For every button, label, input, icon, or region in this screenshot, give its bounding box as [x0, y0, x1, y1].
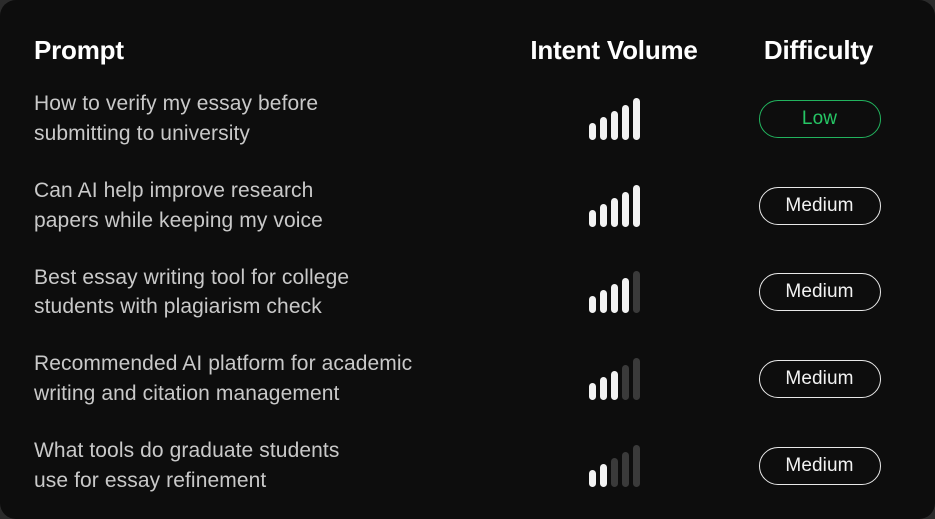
signal-bar-1: [589, 383, 596, 400]
signal-bar-1: [589, 296, 596, 313]
signal-bar-2: [600, 204, 607, 227]
cell-prompt: Recommended AI platform for academic wri…: [34, 349, 504, 409]
signal-bar-4: [622, 365, 629, 400]
prompt-insights-card: Prompt Intent Volume Difficulty How to v…: [0, 0, 935, 519]
header-cell-prompt: Prompt: [34, 35, 504, 66]
cell-prompt: Best essay writing tool for college stud…: [34, 263, 504, 323]
signal-bar-3: [611, 111, 618, 140]
signal-bar-2: [600, 290, 607, 313]
signal-bar-1: [589, 470, 596, 487]
signal-bar-4: [622, 105, 629, 140]
signal-bar-1: [589, 123, 596, 140]
difficulty-badge[interactable]: Medium: [759, 187, 881, 225]
cell-prompt: How to verify my essay before submitting…: [34, 89, 504, 149]
signal-bar-5: [633, 98, 640, 140]
prompt-text: How to verify my essay before submitting…: [34, 92, 318, 145]
prompt-text: Recommended AI platform for academic wri…: [34, 352, 412, 405]
signal-bar-3: [611, 371, 618, 400]
cell-prompt: What tools do graduate students use for …: [34, 436, 504, 496]
signal-bars-icon: [589, 358, 640, 400]
signal-bar-3: [611, 458, 618, 487]
signal-bar-2: [600, 464, 607, 487]
column-header-intent-volume: Intent Volume: [530, 35, 697, 66]
signal-bar-5: [633, 445, 640, 487]
signal-bars-icon: [589, 445, 640, 487]
cell-intent-volume: [504, 445, 724, 487]
signal-bar-4: [622, 452, 629, 487]
table-row[interactable]: Can AI help improve research papers whil…: [34, 163, 915, 250]
signal-bar-2: [600, 117, 607, 140]
cell-difficulty: Medium: [724, 273, 915, 311]
signal-bar-1: [589, 210, 596, 227]
cell-difficulty: Medium: [724, 447, 915, 485]
signal-bar-5: [633, 185, 640, 227]
signal-bar-4: [622, 278, 629, 313]
signal-bars-icon: [589, 185, 640, 227]
signal-bar-5: [633, 271, 640, 313]
cell-difficulty: Medium: [724, 187, 915, 225]
prompt-text: Best essay writing tool for college stud…: [34, 266, 349, 319]
prompts-table: Prompt Intent Volume Difficulty How to v…: [0, 0, 935, 519]
table-body: How to verify my essay before submitting…: [34, 76, 915, 509]
cell-intent-volume: [504, 271, 724, 313]
cell-difficulty: Low: [724, 100, 915, 138]
signal-bar-4: [622, 192, 629, 227]
header-cell-intent-volume: Intent Volume: [504, 35, 724, 66]
table-row[interactable]: Best essay writing tool for college stud…: [34, 249, 915, 336]
cell-prompt: Can AI help improve research papers whil…: [34, 176, 504, 236]
column-header-prompt: Prompt: [34, 35, 124, 65]
table-row[interactable]: What tools do graduate students use for …: [34, 422, 915, 509]
header-cell-difficulty: Difficulty: [724, 35, 915, 66]
cell-intent-volume: [504, 185, 724, 227]
table-row[interactable]: How to verify my essay before submitting…: [34, 76, 915, 163]
difficulty-badge[interactable]: Medium: [759, 360, 881, 398]
signal-bar-3: [611, 284, 618, 313]
difficulty-badge[interactable]: Medium: [759, 273, 881, 311]
table-header-row: Prompt Intent Volume Difficulty: [34, 24, 915, 76]
difficulty-badge[interactable]: Low: [759, 100, 881, 138]
signal-bars-icon: [589, 98, 640, 140]
signal-bar-2: [600, 377, 607, 400]
difficulty-badge[interactable]: Medium: [759, 447, 881, 485]
cell-difficulty: Medium: [724, 360, 915, 398]
column-header-difficulty: Difficulty: [764, 35, 875, 66]
signal-bar-3: [611, 198, 618, 227]
prompt-text: Can AI help improve research papers whil…: [34, 179, 323, 232]
table-row[interactable]: Recommended AI platform for academic wri…: [34, 336, 915, 423]
cell-intent-volume: [504, 358, 724, 400]
signal-bars-icon: [589, 271, 640, 313]
prompt-text: What tools do graduate students use for …: [34, 439, 339, 492]
cell-intent-volume: [504, 98, 724, 140]
signal-bar-5: [633, 358, 640, 400]
